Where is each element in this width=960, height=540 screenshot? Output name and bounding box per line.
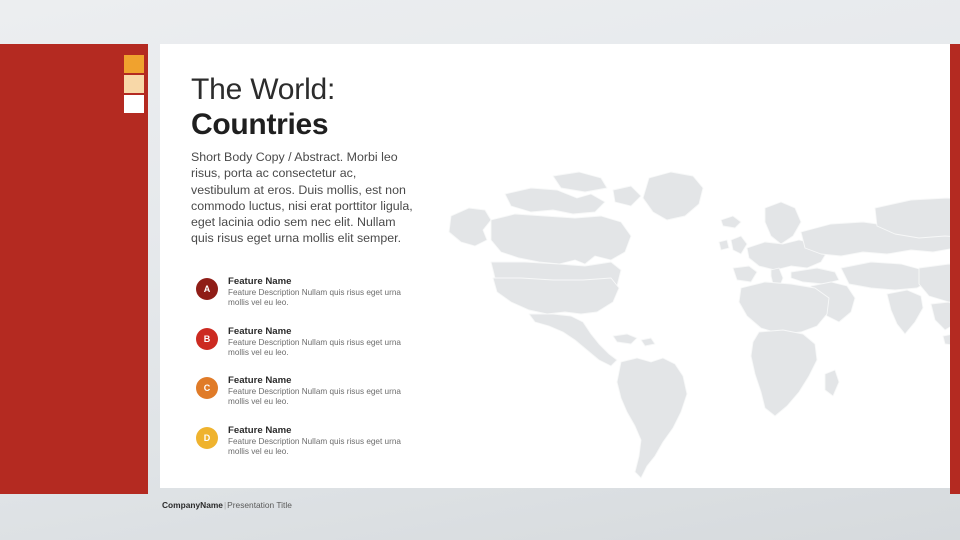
body-copy: Short Body Copy / Abstract. Morbi leo ri… bbox=[191, 149, 417, 247]
feature-description: Feature Description Nullam quis risus eg… bbox=[228, 437, 408, 458]
title-line-secondary: Countries bbox=[191, 107, 491, 142]
list-item[interactable]: C Feature Name Feature Description Nulla… bbox=[191, 375, 451, 425]
world-map-svg bbox=[435, 164, 950, 488]
feature-description: Feature Description Nullam quis risus eg… bbox=[228, 387, 408, 408]
list-item[interactable]: D Feature Name Feature Description Nulla… bbox=[191, 425, 451, 475]
feature-badge-c: C bbox=[196, 377, 218, 399]
feature-badge-b: B bbox=[196, 328, 218, 350]
square-peach-icon bbox=[124, 75, 144, 93]
feature-badge-d: D bbox=[196, 427, 218, 449]
footer-company-name: CompanyName bbox=[162, 500, 223, 510]
right-red-band bbox=[950, 44, 960, 494]
feature-name: Feature Name bbox=[228, 425, 451, 437]
feature-badge-a: A bbox=[196, 278, 218, 300]
title-line-primary: The World: bbox=[191, 72, 491, 107]
square-white-icon bbox=[124, 95, 144, 113]
page-title: The World: Countries bbox=[191, 72, 491, 143]
footer: CompanyName|Presentation Title bbox=[162, 500, 292, 510]
footer-presentation-title: Presentation Title bbox=[227, 500, 292, 510]
content-panel: The World: Countries Short Body Copy / A… bbox=[160, 44, 950, 488]
feature-list: A Feature Name Feature Description Nulla… bbox=[191, 276, 451, 474]
feature-name: Feature Name bbox=[228, 375, 451, 387]
feature-description: Feature Description Nullam quis risus eg… bbox=[228, 338, 408, 359]
feature-description: Feature Description Nullam quis risus eg… bbox=[228, 288, 408, 309]
square-orange-icon bbox=[124, 55, 144, 73]
decor-squares bbox=[124, 55, 144, 115]
world-map bbox=[435, 164, 950, 488]
feature-name: Feature Name bbox=[228, 326, 451, 338]
list-item[interactable]: B Feature Name Feature Description Nulla… bbox=[191, 326, 451, 376]
feature-name: Feature Name bbox=[228, 276, 451, 288]
slide-root: The World: Countries Short Body Copy / A… bbox=[0, 0, 960, 540]
list-item[interactable]: A Feature Name Feature Description Nulla… bbox=[191, 276, 451, 326]
